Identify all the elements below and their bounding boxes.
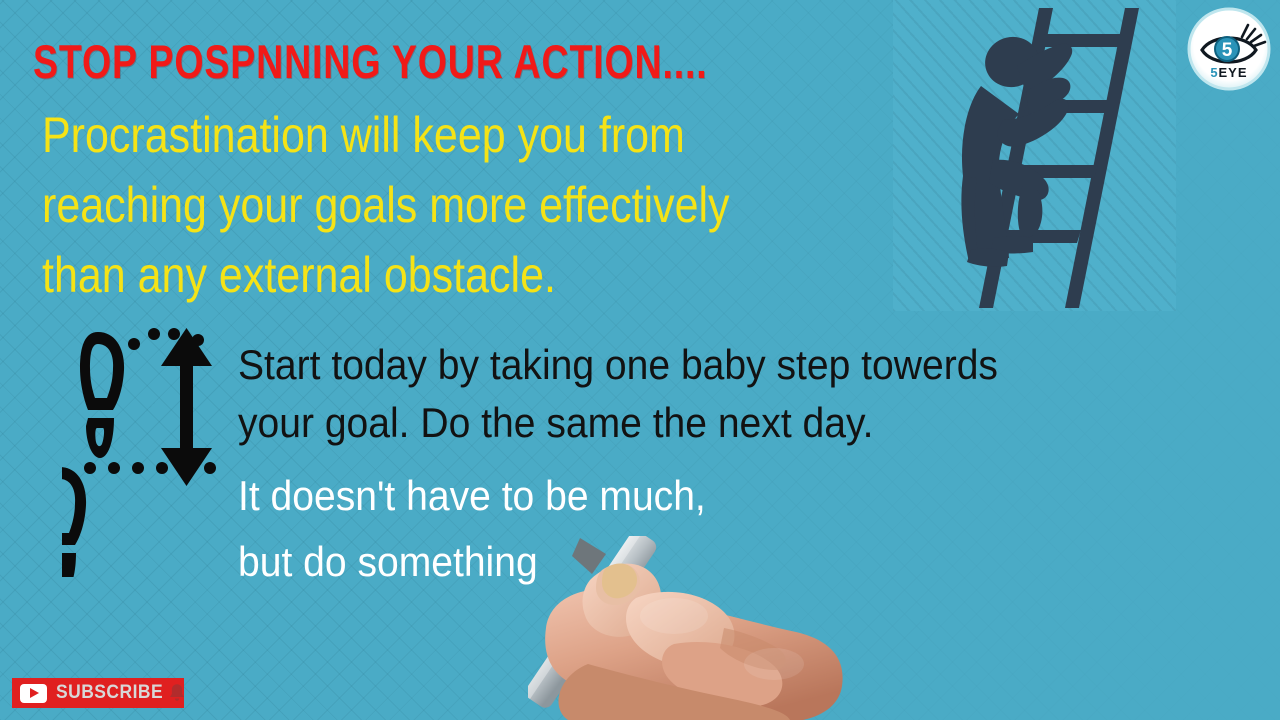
subheadline: Procrastination will keep you from reach… xyxy=(42,100,842,310)
body-white-line-1: It doesn't have to be much, xyxy=(238,463,908,529)
body-white-line-2: but do something xyxy=(238,529,908,595)
body-text-white: It doesn't have to be much, but do somet… xyxy=(238,463,908,595)
logo-wordmark: EYE xyxy=(1218,65,1247,80)
logo-wordmark-digit: 5 xyxy=(1210,65,1217,80)
youtube-play-icon xyxy=(20,684,47,703)
subheadline-line-1: Procrastination will keep you from xyxy=(42,100,842,170)
body-dark-line-2: your goal. Do the same the next day. xyxy=(238,394,1187,452)
notification-bell-icon[interactable] xyxy=(166,682,188,704)
subheadline-line-2: reaching your goals more effectively xyxy=(42,170,842,240)
logo-digit: 5 xyxy=(1222,40,1233,61)
footprints-with-arrow-icon xyxy=(62,322,237,577)
channel-logo[interactable]: 5 EYE 5 xyxy=(1186,6,1272,92)
ladder-illustration-panel xyxy=(893,0,1176,311)
body-dark-line-1: Start today by taking one baby step towe… xyxy=(238,336,1187,394)
subscribe-button[interactable]: SUBSCRIBE xyxy=(12,678,184,708)
slide-canvas: STOP POSPNNING YOUR ACTION.... Procrasti… xyxy=(0,0,1280,720)
person-climbing-ladder-icon xyxy=(893,0,1176,311)
subheadline-line-3: than any external obstacle. xyxy=(42,240,842,310)
body-text-dark: Start today by taking one baby step towe… xyxy=(238,336,1187,452)
subscribe-label: SUBSCRIBE xyxy=(56,682,163,704)
page-title: STOP POSPNNING YOUR ACTION.... xyxy=(33,36,707,88)
